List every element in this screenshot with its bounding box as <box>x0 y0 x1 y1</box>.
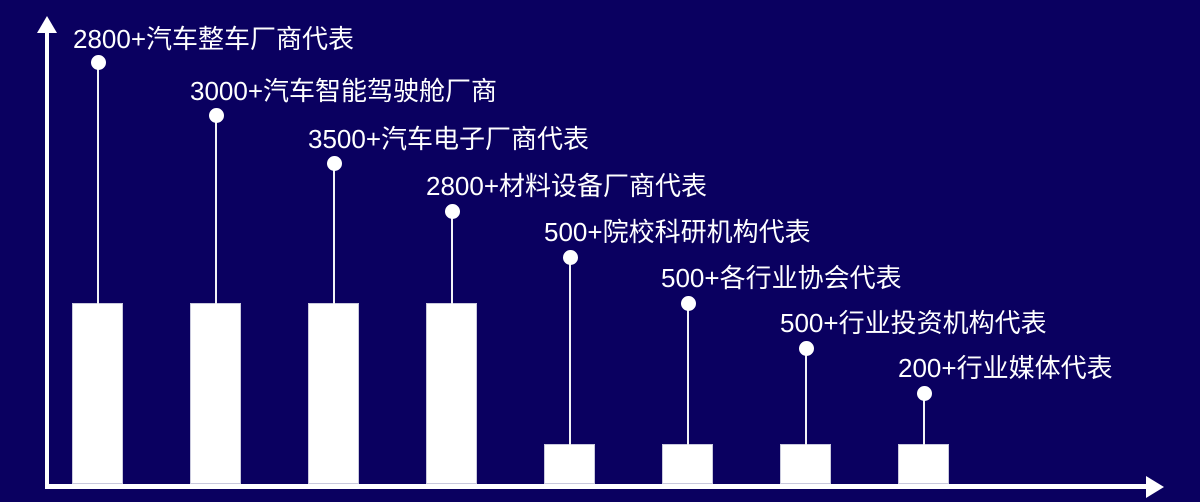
data-label-5: 500+院校科研机构代表 <box>544 217 811 247</box>
marker-dot-2[interactable] <box>209 108 224 123</box>
y-axis-arrow-icon <box>37 16 57 33</box>
bar-8[interactable] <box>898 444 949 484</box>
marker-dot-3[interactable] <box>327 156 342 171</box>
marker-dot-5[interactable] <box>563 250 578 265</box>
marker-dot-4[interactable] <box>445 204 460 219</box>
x-axis-arrow-icon <box>1146 476 1164 498</box>
stem-4 <box>451 211 453 304</box>
stem-5 <box>569 257 571 445</box>
marker-dot-7[interactable] <box>799 341 814 356</box>
data-label-1: 2800+汽车整车厂商代表 <box>73 24 354 54</box>
stem-3 <box>333 163 335 304</box>
stem-1 <box>97 62 99 304</box>
bar-4[interactable] <box>426 303 477 484</box>
marker-dot-1[interactable] <box>91 55 106 70</box>
data-label-4: 2800+材料设备厂商代表 <box>426 171 707 201</box>
data-label-3: 3500+汽车电子厂商代表 <box>308 124 589 154</box>
marker-dot-6[interactable] <box>681 296 696 311</box>
stem-2 <box>215 115 217 304</box>
bar-5[interactable] <box>544 444 595 484</box>
data-label-2: 3000+汽车智能驾驶舱厂商 <box>190 76 497 106</box>
data-label-8: 200+行业媒体代表 <box>898 353 1113 383</box>
bar-3[interactable] <box>308 303 359 484</box>
y-axis-line <box>45 30 49 488</box>
bar-chart: 2800+汽车整车厂商代表 3000+汽车智能驾驶舱厂商 3500+汽车电子厂商… <box>0 0 1200 502</box>
stem-6 <box>687 303 689 445</box>
x-axis-line <box>45 484 1150 489</box>
marker-dot-8[interactable] <box>917 386 932 401</box>
stem-7 <box>805 348 807 445</box>
data-label-7: 500+行业投资机构代表 <box>780 308 1047 338</box>
bar-1[interactable] <box>72 303 123 484</box>
bar-6[interactable] <box>662 444 713 484</box>
data-label-6: 500+各行业协会代表 <box>661 263 902 293</box>
bar-2[interactable] <box>190 303 241 484</box>
bar-7[interactable] <box>780 444 831 484</box>
